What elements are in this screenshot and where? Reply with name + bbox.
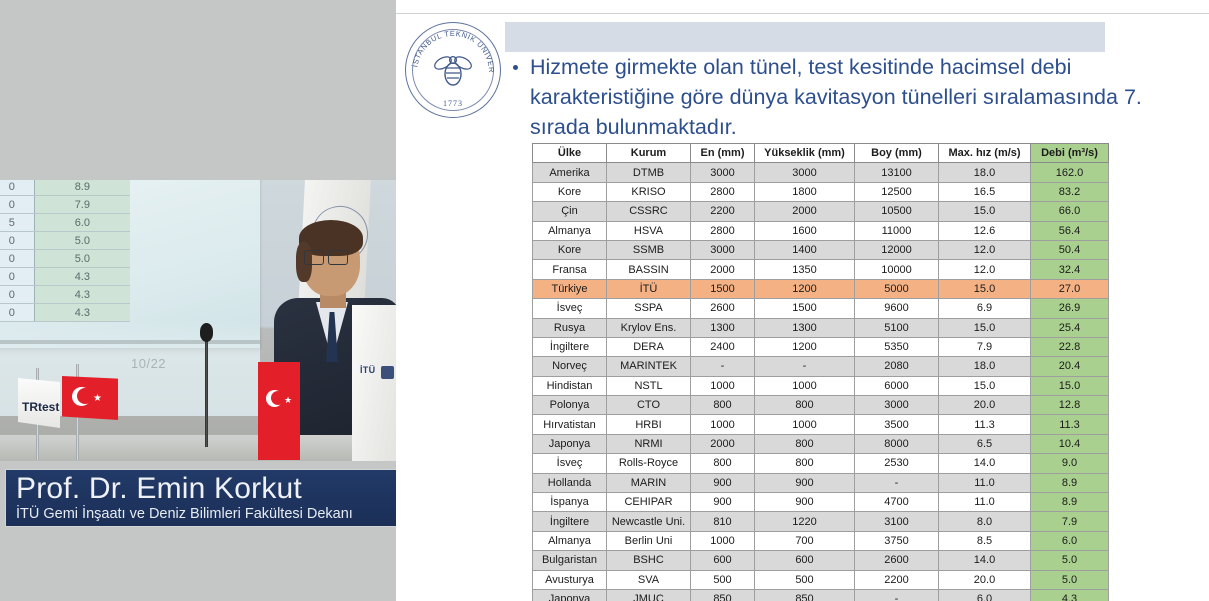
cell-ulke: İngiltere: [533, 512, 607, 531]
cell-max-hiz: 12.0: [939, 240, 1031, 259]
cell-yukseklik: 900: [755, 493, 855, 512]
cell-yukseklik: 800: [755, 454, 855, 473]
cell-kurum: MARIN: [607, 473, 691, 492]
cell-boy: 12500: [855, 182, 939, 201]
table-row: HollandaMARIN900900-11.08.9: [533, 473, 1109, 492]
cell-debi: 9.0: [1031, 454, 1109, 473]
cell-yukseklik: 600: [755, 551, 855, 570]
cell-boy: 6000: [855, 376, 939, 395]
cell-en: 2000: [691, 434, 755, 453]
cell-max-hiz: 15.0: [939, 202, 1031, 221]
table-row: TürkiyeİTÜ15001200500015.027.0: [533, 279, 1109, 298]
projected-cell-left: 0: [0, 196, 35, 213]
cell-debi: 6.0: [1031, 531, 1109, 550]
cell-debi: 4.3: [1031, 589, 1109, 601]
cell-kurum: Newcastle Uni.: [607, 512, 691, 531]
cell-ulke: İngiltere: [533, 337, 607, 356]
cell-yukseklik: 1200: [755, 279, 855, 298]
cell-debi: 32.4: [1031, 260, 1109, 279]
cell-kurum: MARINTEK: [607, 357, 691, 376]
table-row: AmerikaDTMB300030001310018.0162.0: [533, 163, 1109, 182]
cell-boy: 5100: [855, 318, 939, 337]
col-header-en: En (mm): [691, 144, 755, 163]
projected-cell-right: 5.0: [35, 232, 130, 249]
cell-max-hiz: 11.3: [939, 415, 1031, 434]
projected-row: 05.0: [0, 232, 130, 250]
crescent-inner: [77, 388, 93, 404]
cell-ulke: Japonya: [533, 434, 607, 453]
seal-year: 1773: [405, 99, 501, 108]
cell-boy: 2200: [855, 570, 939, 589]
cell-ulke: Polonya: [533, 396, 607, 415]
turkish-flag: ★: [62, 376, 118, 420]
cell-boy: -: [855, 589, 939, 601]
cell-boy: 2530: [855, 454, 939, 473]
col-header-max-hiz: Max. hız (m/s): [939, 144, 1031, 163]
cell-yukseklik: 800: [755, 396, 855, 415]
table-body: AmerikaDTMB300030001310018.0162.0KoreKRI…: [533, 163, 1109, 601]
projected-cell-left: 0: [0, 286, 35, 303]
cell-max-hiz: 15.0: [939, 318, 1031, 337]
projected-cell-right: 5.0: [35, 250, 130, 267]
cell-yukseklik: 700: [755, 531, 855, 550]
cell-en: -: [691, 357, 755, 376]
table-row: JaponyaJMUC850850-6.04.3: [533, 589, 1109, 601]
cell-boy: 12000: [855, 240, 939, 259]
table-row: İngiltereNewcastle Uni.810122031008.07.9: [533, 512, 1109, 531]
table-row: HindistanNSTL10001000600015.015.0: [533, 376, 1109, 395]
cell-ulke: İsveç: [533, 299, 607, 318]
cell-kurum: SSPA: [607, 299, 691, 318]
trtest-flag-label: TRtest: [22, 400, 59, 414]
cell-yukseklik: 1600: [755, 221, 855, 240]
cavitation-tunnels-table: Ülke Kurum En (mm) Yükseklik (mm) Boy (m…: [532, 143, 1109, 601]
cell-boy: 11000: [855, 221, 939, 240]
cell-kurum: JMUC: [607, 589, 691, 601]
table-row: İsveçRolls-Royce800800253014.09.0: [533, 454, 1109, 473]
table-row: İngiltereDERA2400120053507.922.8: [533, 337, 1109, 356]
cell-ulke: Japonya: [533, 589, 607, 601]
table-row: RusyaKrylov Ens.13001300510015.025.4: [533, 318, 1109, 337]
cell-kurum: NSTL: [607, 376, 691, 395]
projected-cell-left: 0: [0, 180, 35, 195]
cell-max-hiz: 7.9: [939, 337, 1031, 356]
cell-ulke: Avusturya: [533, 570, 607, 589]
cell-ulke: Çin: [533, 202, 607, 221]
cell-debi: 5.0: [1031, 551, 1109, 570]
col-header-kurum: Kurum: [607, 144, 691, 163]
table-row: İspanyaCEHIPAR900900470011.08.9: [533, 493, 1109, 512]
cell-yukseklik: 1220: [755, 512, 855, 531]
cell-kurum: KRISO: [607, 182, 691, 201]
trtest-flag: TRtest: [18, 378, 60, 428]
lower-third-name-banner: Prof. Dr. Emin Korkut İTÜ Gemi İnşaatı v…: [6, 470, 454, 526]
projected-cell-left: 0: [0, 304, 35, 321]
cell-max-hiz: 15.0: [939, 279, 1031, 298]
cell-debi: 7.9: [1031, 512, 1109, 531]
cell-yukseklik: 1350: [755, 260, 855, 279]
cell-en: 3000: [691, 163, 755, 182]
cell-kurum: DTMB: [607, 163, 691, 182]
table-row: FransaBASSIN200013501000012.032.4: [533, 260, 1109, 279]
cell-max-hiz: 18.0: [939, 357, 1031, 376]
table-row: ÇinCSSRC220020001050015.066.0: [533, 202, 1109, 221]
table-row: AvusturyaSVA500500220020.05.0: [533, 570, 1109, 589]
cell-en: 850: [691, 589, 755, 601]
col-header-boy: Boy (mm): [855, 144, 939, 163]
desk: [0, 435, 400, 461]
table-row: AlmanyaBerlin Uni100070037508.56.0: [533, 531, 1109, 550]
cell-ulke: Hırvatistan: [533, 415, 607, 434]
cell-kurum: CSSRC: [607, 202, 691, 221]
cell-max-hiz: 8.5: [939, 531, 1031, 550]
projected-row: 56.0: [0, 214, 130, 232]
cell-kurum: DERA: [607, 337, 691, 356]
cell-debi: 56.4: [1031, 221, 1109, 240]
cell-debi: 83.2: [1031, 182, 1109, 201]
cell-yukseklik: 850: [755, 589, 855, 601]
cell-ulke: Norveç: [533, 357, 607, 376]
projected-row: 08.9: [0, 180, 130, 196]
projected-cell-left: 0: [0, 250, 35, 267]
cell-boy: 2600: [855, 551, 939, 570]
table-header-row: Ülke Kurum En (mm) Yükseklik (mm) Boy (m…: [533, 144, 1109, 163]
speaker-title: İTÜ Gemi İnşaatı ve Deniz Bilimleri Fakü…: [16, 506, 454, 523]
cell-boy: 5000: [855, 279, 939, 298]
col-header-debi: Debi (m³/s): [1031, 144, 1109, 163]
cell-max-hiz: 18.0: [939, 163, 1031, 182]
glasses-icon: [304, 250, 348, 263]
cell-debi: 66.0: [1031, 202, 1109, 221]
cell-en: 800: [691, 454, 755, 473]
cell-max-hiz: 6.0: [939, 589, 1031, 601]
cell-en: 2800: [691, 221, 755, 240]
cell-en: 900: [691, 473, 755, 492]
cell-max-hiz: 11.0: [939, 493, 1031, 512]
cell-en: 1000: [691, 531, 755, 550]
cell-max-hiz: 20.0: [939, 396, 1031, 415]
cell-en: 500: [691, 570, 755, 589]
cell-yukseklik: 3000: [755, 163, 855, 182]
cell-en: 900: [691, 493, 755, 512]
cell-en: 1500: [691, 279, 755, 298]
cell-max-hiz: 12.6: [939, 221, 1031, 240]
table-row: İsveçSSPA2600150096006.926.9: [533, 299, 1109, 318]
table-row: NorveçMARINTEK--208018.020.4: [533, 357, 1109, 376]
projected-row: 05.0: [0, 250, 130, 268]
projected-cell-right: 4.3: [35, 304, 130, 321]
cell-ulke: Hindistan: [533, 376, 607, 395]
slide-counter: 10/22: [131, 356, 166, 371]
cell-debi: 50.4: [1031, 240, 1109, 259]
cell-ulke: Kore: [533, 240, 607, 259]
cell-max-hiz: 8.0: [939, 512, 1031, 531]
cell-boy: 10000: [855, 260, 939, 279]
cell-max-hiz: 15.0: [939, 376, 1031, 395]
cell-en: 3000: [691, 240, 755, 259]
projected-cell-left: 0: [0, 268, 35, 285]
presentation-slide[interactable]: İSTANBUL TEKNİK ÜNİVERSİTESİ 1773 Hizmet…: [396, 0, 1209, 601]
cell-kurum: BSHC: [607, 551, 691, 570]
cell-yukseklik: -: [755, 357, 855, 376]
projected-cell-right: 7.9: [35, 196, 130, 213]
projected-cell-right: 4.3: [35, 286, 130, 303]
cell-yukseklik: 1800: [755, 182, 855, 201]
cell-boy: 3000: [855, 396, 939, 415]
star-icon: ★: [93, 394, 102, 404]
table-row: AlmanyaHSVA280016001100012.656.4: [533, 221, 1109, 240]
cell-ulke: Fransa: [533, 260, 607, 279]
cell-debi: 5.0: [1031, 570, 1109, 589]
cell-max-hiz: 6.9: [939, 299, 1031, 318]
video-feed[interactable]: 08.9 07.9 56.0 05.0 05.0 04.3 04.3 04.3 …: [0, 180, 400, 461]
bee-icon: [433, 50, 473, 88]
cell-debi: 15.0: [1031, 376, 1109, 395]
slide-top-divider: [396, 13, 1209, 14]
cell-debi: 22.8: [1031, 337, 1109, 356]
microphone-icon: [200, 323, 213, 342]
cell-yukseklik: 1300: [755, 318, 855, 337]
cell-kurum: Berlin Uni: [607, 531, 691, 550]
cell-en: 600: [691, 551, 755, 570]
cell-max-hiz: 20.0: [939, 570, 1031, 589]
cell-en: 1300: [691, 318, 755, 337]
cell-ulke: Hollanda: [533, 473, 607, 492]
cell-debi: 8.9: [1031, 493, 1109, 512]
cell-en: 1000: [691, 415, 755, 434]
projected-row: 04.3: [0, 304, 130, 322]
cell-boy: 10500: [855, 202, 939, 221]
cell-en: 1000: [691, 376, 755, 395]
cell-ulke: Kore: [533, 182, 607, 201]
istanbul-teknik-universitesi-seal-icon: İSTANBUL TEKNİK ÜNİVERSİTESİ 1773: [405, 22, 501, 118]
cell-ulke: Amerika: [533, 163, 607, 182]
cell-boy: -: [855, 473, 939, 492]
cell-debi: 12.8: [1031, 396, 1109, 415]
cell-boy: 3100: [855, 512, 939, 531]
cell-debi: 8.9: [1031, 473, 1109, 492]
cell-ulke: Türkiye: [533, 279, 607, 298]
microphone-stand: [205, 332, 208, 447]
cell-en: 2600: [691, 299, 755, 318]
cell-kurum: HSVA: [607, 221, 691, 240]
table-row: JaponyaNRMI200080080006.510.4: [533, 434, 1109, 453]
cell-yukseklik: 1500: [755, 299, 855, 318]
cell-debi: 26.9: [1031, 299, 1109, 318]
cell-en: 2200: [691, 202, 755, 221]
table-row: KoreKRISO280018001250016.583.2: [533, 182, 1109, 201]
cell-kurum: CTO: [607, 396, 691, 415]
cell-boy: 5350: [855, 337, 939, 356]
cell-kurum: CEHIPAR: [607, 493, 691, 512]
projected-row: 07.9: [0, 196, 130, 214]
speaker-name: Prof. Dr. Emin Korkut: [16, 472, 454, 506]
cell-yukseklik: 500: [755, 570, 855, 589]
col-header-yukseklik: Yükseklik (mm): [755, 144, 855, 163]
turkish-flag-desk: ★: [258, 362, 300, 460]
table-row: BulgaristanBSHC600600260014.05.0: [533, 551, 1109, 570]
cell-ulke: Almanya: [533, 221, 607, 240]
cell-ulke: Bulgaristan: [533, 551, 607, 570]
projected-cell-right: 6.0: [35, 214, 130, 231]
cell-en: 810: [691, 512, 755, 531]
cell-kurum: Krylov Ens.: [607, 318, 691, 337]
cell-max-hiz: 12.0: [939, 260, 1031, 279]
cell-kurum: SVA: [607, 570, 691, 589]
cell-max-hiz: 16.5: [939, 182, 1031, 201]
cell-yukseklik: 1200: [755, 337, 855, 356]
projected-cell-right: 8.9: [35, 180, 130, 195]
cell-boy: 3750: [855, 531, 939, 550]
table-row: KoreSSMB300014001200012.050.4: [533, 240, 1109, 259]
cell-yukseklik: 1000: [755, 415, 855, 434]
cell-kurum: Rolls-Royce: [607, 454, 691, 473]
cell-debi: 11.3: [1031, 415, 1109, 434]
cell-max-hiz: 6.5: [939, 434, 1031, 453]
cell-boy: 3500: [855, 415, 939, 434]
cell-debi: 27.0: [1031, 279, 1109, 298]
projection-edge: [0, 340, 260, 344]
projected-cell-left: 0: [0, 232, 35, 249]
title-band: [505, 22, 1105, 52]
cell-boy: 4700: [855, 493, 939, 512]
table-row: PolonyaCTO800800300020.012.8: [533, 396, 1109, 415]
cell-kurum: BASSIN: [607, 260, 691, 279]
col-header-ulke: Ülke: [533, 144, 607, 163]
cell-ulke: Almanya: [533, 531, 607, 550]
cell-kurum: SSMB: [607, 240, 691, 259]
cell-max-hiz: 11.0: [939, 473, 1031, 492]
cell-yukseklik: 2000: [755, 202, 855, 221]
cell-boy: 13100: [855, 163, 939, 182]
cell-ulke: İspanya: [533, 493, 607, 512]
crescent-inner: [271, 391, 285, 405]
cell-en: 800: [691, 396, 755, 415]
cell-kurum: HRBI: [607, 415, 691, 434]
cell-max-hiz: 14.0: [939, 551, 1031, 570]
cell-debi: 20.4: [1031, 357, 1109, 376]
cell-debi: 25.4: [1031, 318, 1109, 337]
itu-banner-mark-icon: [381, 366, 394, 379]
bullet-point-icon: [513, 65, 518, 70]
cell-boy: 8000: [855, 434, 939, 453]
cell-yukseklik: 900: [755, 473, 855, 492]
projected-cell-right: 4.3: [35, 268, 130, 285]
cell-yukseklik: 1000: [755, 376, 855, 395]
cell-en: 2400: [691, 337, 755, 356]
cell-yukseklik: 800: [755, 434, 855, 453]
itu-roll-up-banner: [352, 305, 398, 461]
cell-yukseklik: 1400: [755, 240, 855, 259]
cell-en: 2000: [691, 260, 755, 279]
cell-en: 2800: [691, 182, 755, 201]
cell-boy: 9600: [855, 299, 939, 318]
cell-kurum: İTÜ: [607, 279, 691, 298]
star-icon: ★: [284, 396, 292, 405]
cell-ulke: Rusya: [533, 318, 607, 337]
cell-debi: 10.4: [1031, 434, 1109, 453]
slide-bullet-text: Hizmete girmekte olan tünel, test kesiti…: [530, 52, 1170, 142]
projected-cell-left: 5: [0, 214, 35, 231]
projected-row: 04.3: [0, 268, 130, 286]
projected-table: 08.9 07.9 56.0 05.0 05.0 04.3 04.3 04.3: [0, 180, 130, 322]
cell-debi: 162.0: [1031, 163, 1109, 182]
cell-max-hiz: 14.0: [939, 454, 1031, 473]
table-row: HırvatistanHRBI10001000350011.311.3: [533, 415, 1109, 434]
cell-kurum: NRMI: [607, 434, 691, 453]
cell-boy: 2080: [855, 357, 939, 376]
cell-ulke: İsveç: [533, 454, 607, 473]
projected-row: 04.3: [0, 286, 130, 304]
